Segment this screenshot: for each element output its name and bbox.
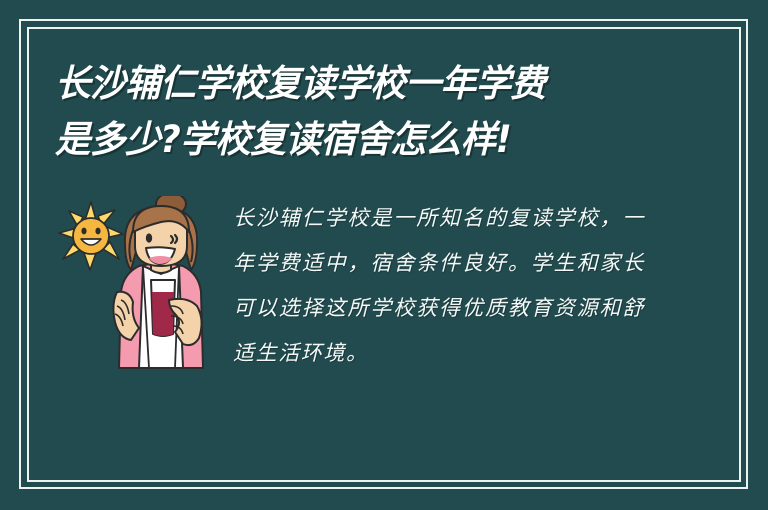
poster-canvas: 长沙辅仁学校复读学校一年学费 是多少?学校复读宿舍怎么样! xyxy=(0,0,768,510)
content-row: 长沙辅仁学校是一所知名的复读学校，一年学费适中，宿舍条件良好。学生和家长可以选择… xyxy=(55,196,695,376)
page-title: 长沙辅仁学校复读学校一年学费 是多少?学校复读宿舍怎么样! xyxy=(55,56,675,168)
headline-line-2: 是多少?学校复读宿舍怎么样! xyxy=(55,112,650,168)
smiling-sun-icon xyxy=(59,202,123,270)
illustration xyxy=(55,196,215,371)
girl-with-drink-illustration xyxy=(113,196,203,368)
headline-line-1: 长沙辅仁学校复读学校一年学费 xyxy=(55,56,650,112)
body-paragraph: 长沙辅仁学校是一所知名的复读学校，一年学费适中，宿舍条件良好。学生和家长可以选择… xyxy=(233,196,645,376)
